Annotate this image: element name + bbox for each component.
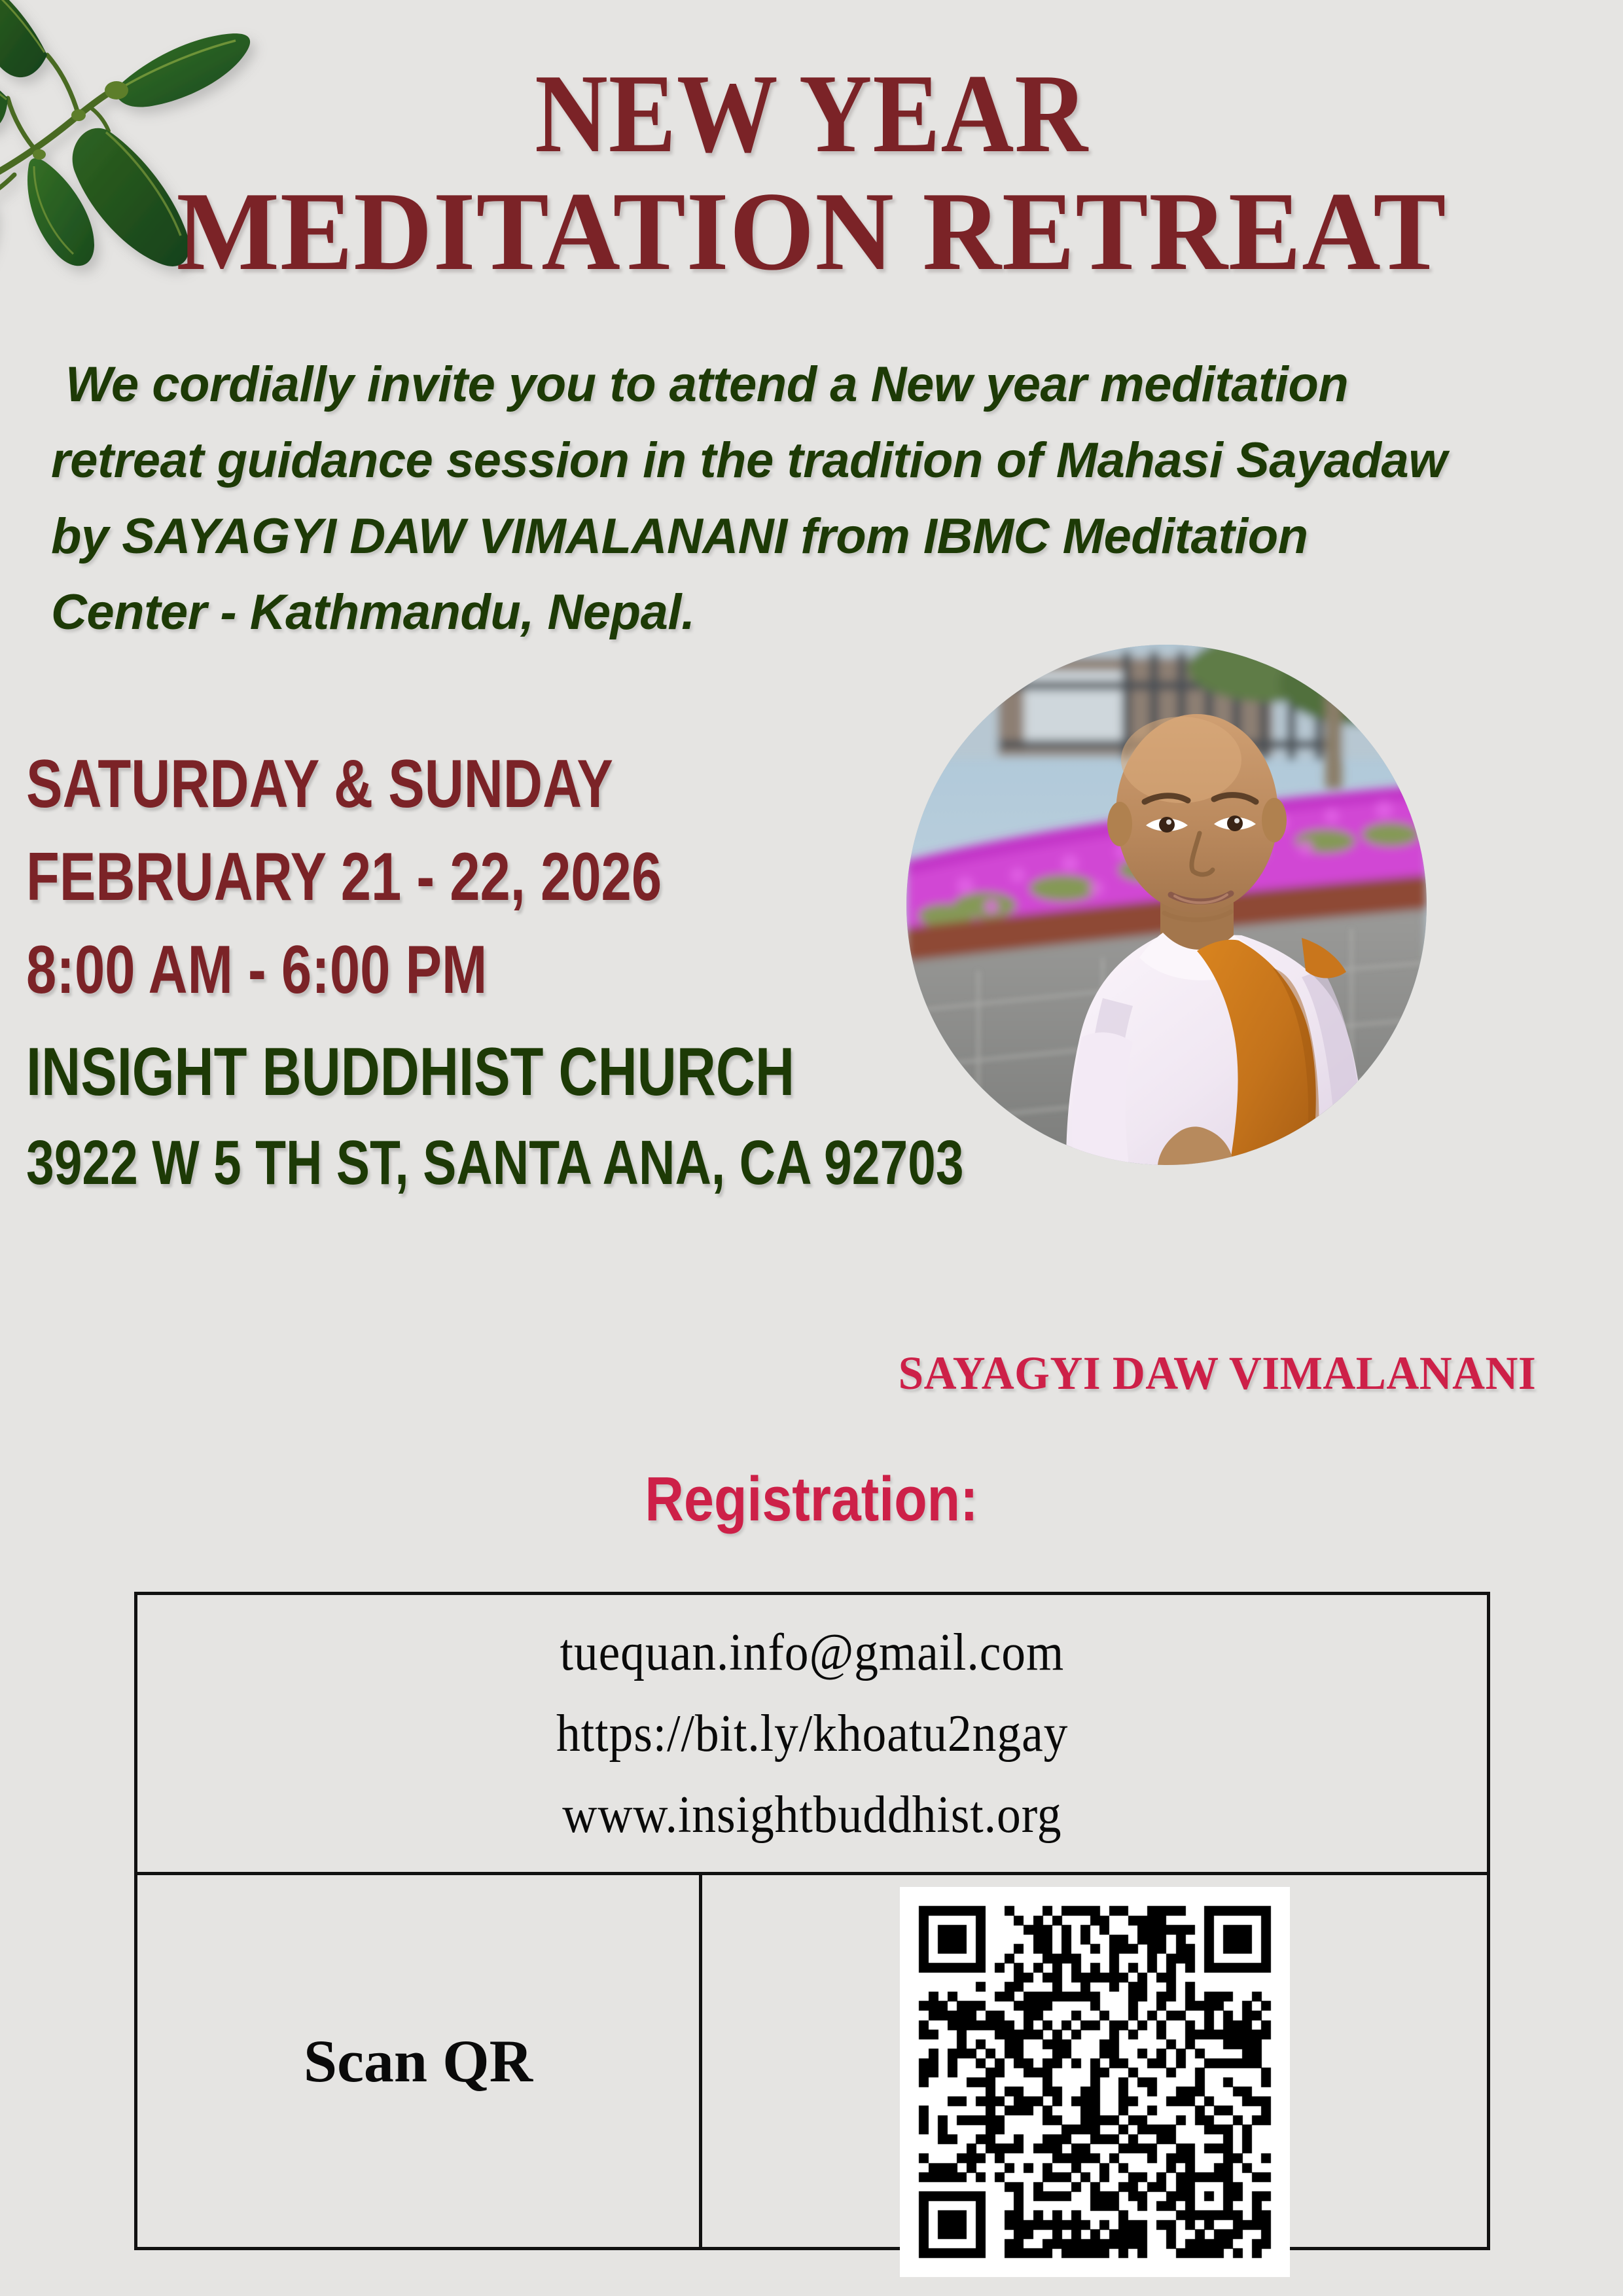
scan-qr-cell: Scan QR — [137, 1875, 702, 2247]
registration-short-link[interactable]: https://bit.ly/khoatu2ngay — [556, 1693, 1068, 1774]
teacher-name-caption: SAYAGYI DAW VIMALANANI — [853, 1347, 1582, 1399]
event-dates: FEBRUARY 21 - 22, 2026 — [26, 839, 749, 915]
qr-code-cell — [702, 1875, 1487, 2247]
teacher-portrait-photo — [906, 645, 1427, 1165]
qr-code-icon[interactable] — [900, 1887, 1290, 2277]
headline-line-2: MEDITATION RETREAT — [24, 173, 1599, 291]
contact-info-row: tuequan.info@gmail.com https://bit.ly/kh… — [137, 1595, 1487, 1875]
poster-canvas: NEW YEAR MEDITATION RETREAT We cordially… — [0, 0, 1623, 2296]
invitation-line-1: We cordially invite you to attend a New … — [65, 347, 1525, 423]
registration-email[interactable]: tuequan.info@gmail.com — [560, 1612, 1065, 1693]
registration-heading: Registration: — [114, 1463, 1510, 1535]
qr-row: Scan QR — [137, 1875, 1487, 2247]
registration-table: tuequan.info@gmail.com https://bit.ly/kh… — [134, 1592, 1490, 2250]
scan-qr-label: Scan QR — [304, 2028, 533, 2094]
event-days: SATURDAY & SUNDAY — [26, 746, 749, 822]
headline-line-1: NEW YEAR — [81, 55, 1542, 173]
event-time: 8:00 AM - 6:00 PM — [26, 932, 749, 1008]
invitation-line-4: Center - Kathmandu, Nepal. — [51, 575, 1525, 651]
event-details: SATURDAY & SUNDAY FEBRUARY 21 - 22, 2026… — [26, 746, 929, 1199]
event-venue: INSIGHT BUDDHIST CHURCH — [26, 1034, 749, 1110]
invitation-paragraph: We cordially invite you to attend a New … — [46, 347, 1525, 651]
invitation-line-2: retreat guidance session in the traditio… — [51, 423, 1525, 499]
event-address: 3922 W 5 TH ST, SANTA ANA, CA 92703 — [26, 1127, 749, 1199]
page-title: NEW YEAR MEDITATION RETREAT — [0, 55, 1623, 291]
registration-website[interactable]: www.insightbuddhist.org — [562, 1774, 1061, 1856]
invitation-line-3: by SAYAGYI DAW VIMALANANI from IBMC Medi… — [51, 499, 1525, 575]
